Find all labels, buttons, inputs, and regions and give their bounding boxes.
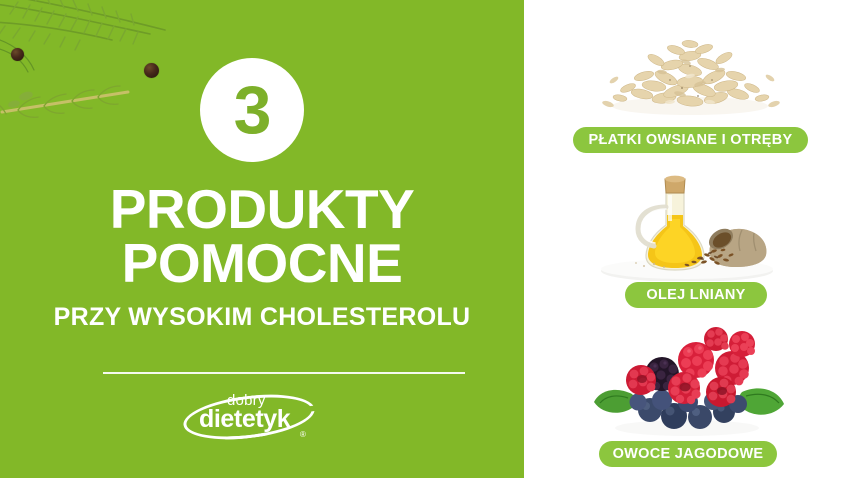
peppercorn-icon (11, 48, 24, 61)
linseed-oil-carafe-icon (524, 163, 850, 281)
product-label-text: OLEJ LNIANY (646, 287, 745, 303)
mixed-berries-icon (524, 322, 850, 440)
brand-logo: dobry dietetyk ® (183, 388, 323, 448)
product-item-berries: OWOCE JAGODOWE (524, 322, 850, 440)
logo-main-word: dietetyk (199, 405, 290, 434)
step-number-value: 3 (234, 76, 271, 144)
product-list-column: PŁATKI OWSIANE I OTRĘBY (524, 0, 850, 478)
headline-line-2: POMOCNE (0, 237, 524, 291)
product-item-linseed-oil: OLEJ LNIANY (524, 163, 850, 281)
oat-flakes-icon (524, 8, 850, 126)
registered-trademark-mark: ® (300, 430, 306, 439)
product-photo (524, 163, 850, 281)
headline-line-1: PRODUKTY (110, 178, 415, 240)
product-label-text: OWOCE JAGODOWE (613, 446, 764, 462)
page-subtitle: PRZY WYSOKIM CHOLESTEROLU (0, 303, 524, 332)
peppercorn-icon (144, 63, 159, 78)
page-title: PRODUKTY POMOCNE (0, 183, 524, 291)
left-green-panel: 3 PRODUKTY POMOCNE PRZY WYSOKIM CHOLESTE… (0, 0, 524, 478)
product-label-text: PŁATKI OWSIANE I OTRĘBY (589, 132, 793, 148)
product-photo (524, 322, 850, 440)
step-number-badge: 3 (200, 58, 304, 162)
divider-line (103, 372, 465, 374)
infographic-canvas: 3 PRODUKTY POMOCNE PRZY WYSOKIM CHOLESTE… (0, 0, 850, 478)
product-label-pill[interactable]: OWOCE JAGODOWE (599, 441, 777, 467)
product-item-oats: PŁATKI OWSIANE I OTRĘBY (524, 8, 850, 126)
product-label-pill[interactable]: PŁATKI OWSIANE I OTRĘBY (573, 127, 808, 153)
product-label-pill[interactable]: OLEJ LNIANY (625, 282, 767, 308)
product-photo (524, 8, 850, 126)
